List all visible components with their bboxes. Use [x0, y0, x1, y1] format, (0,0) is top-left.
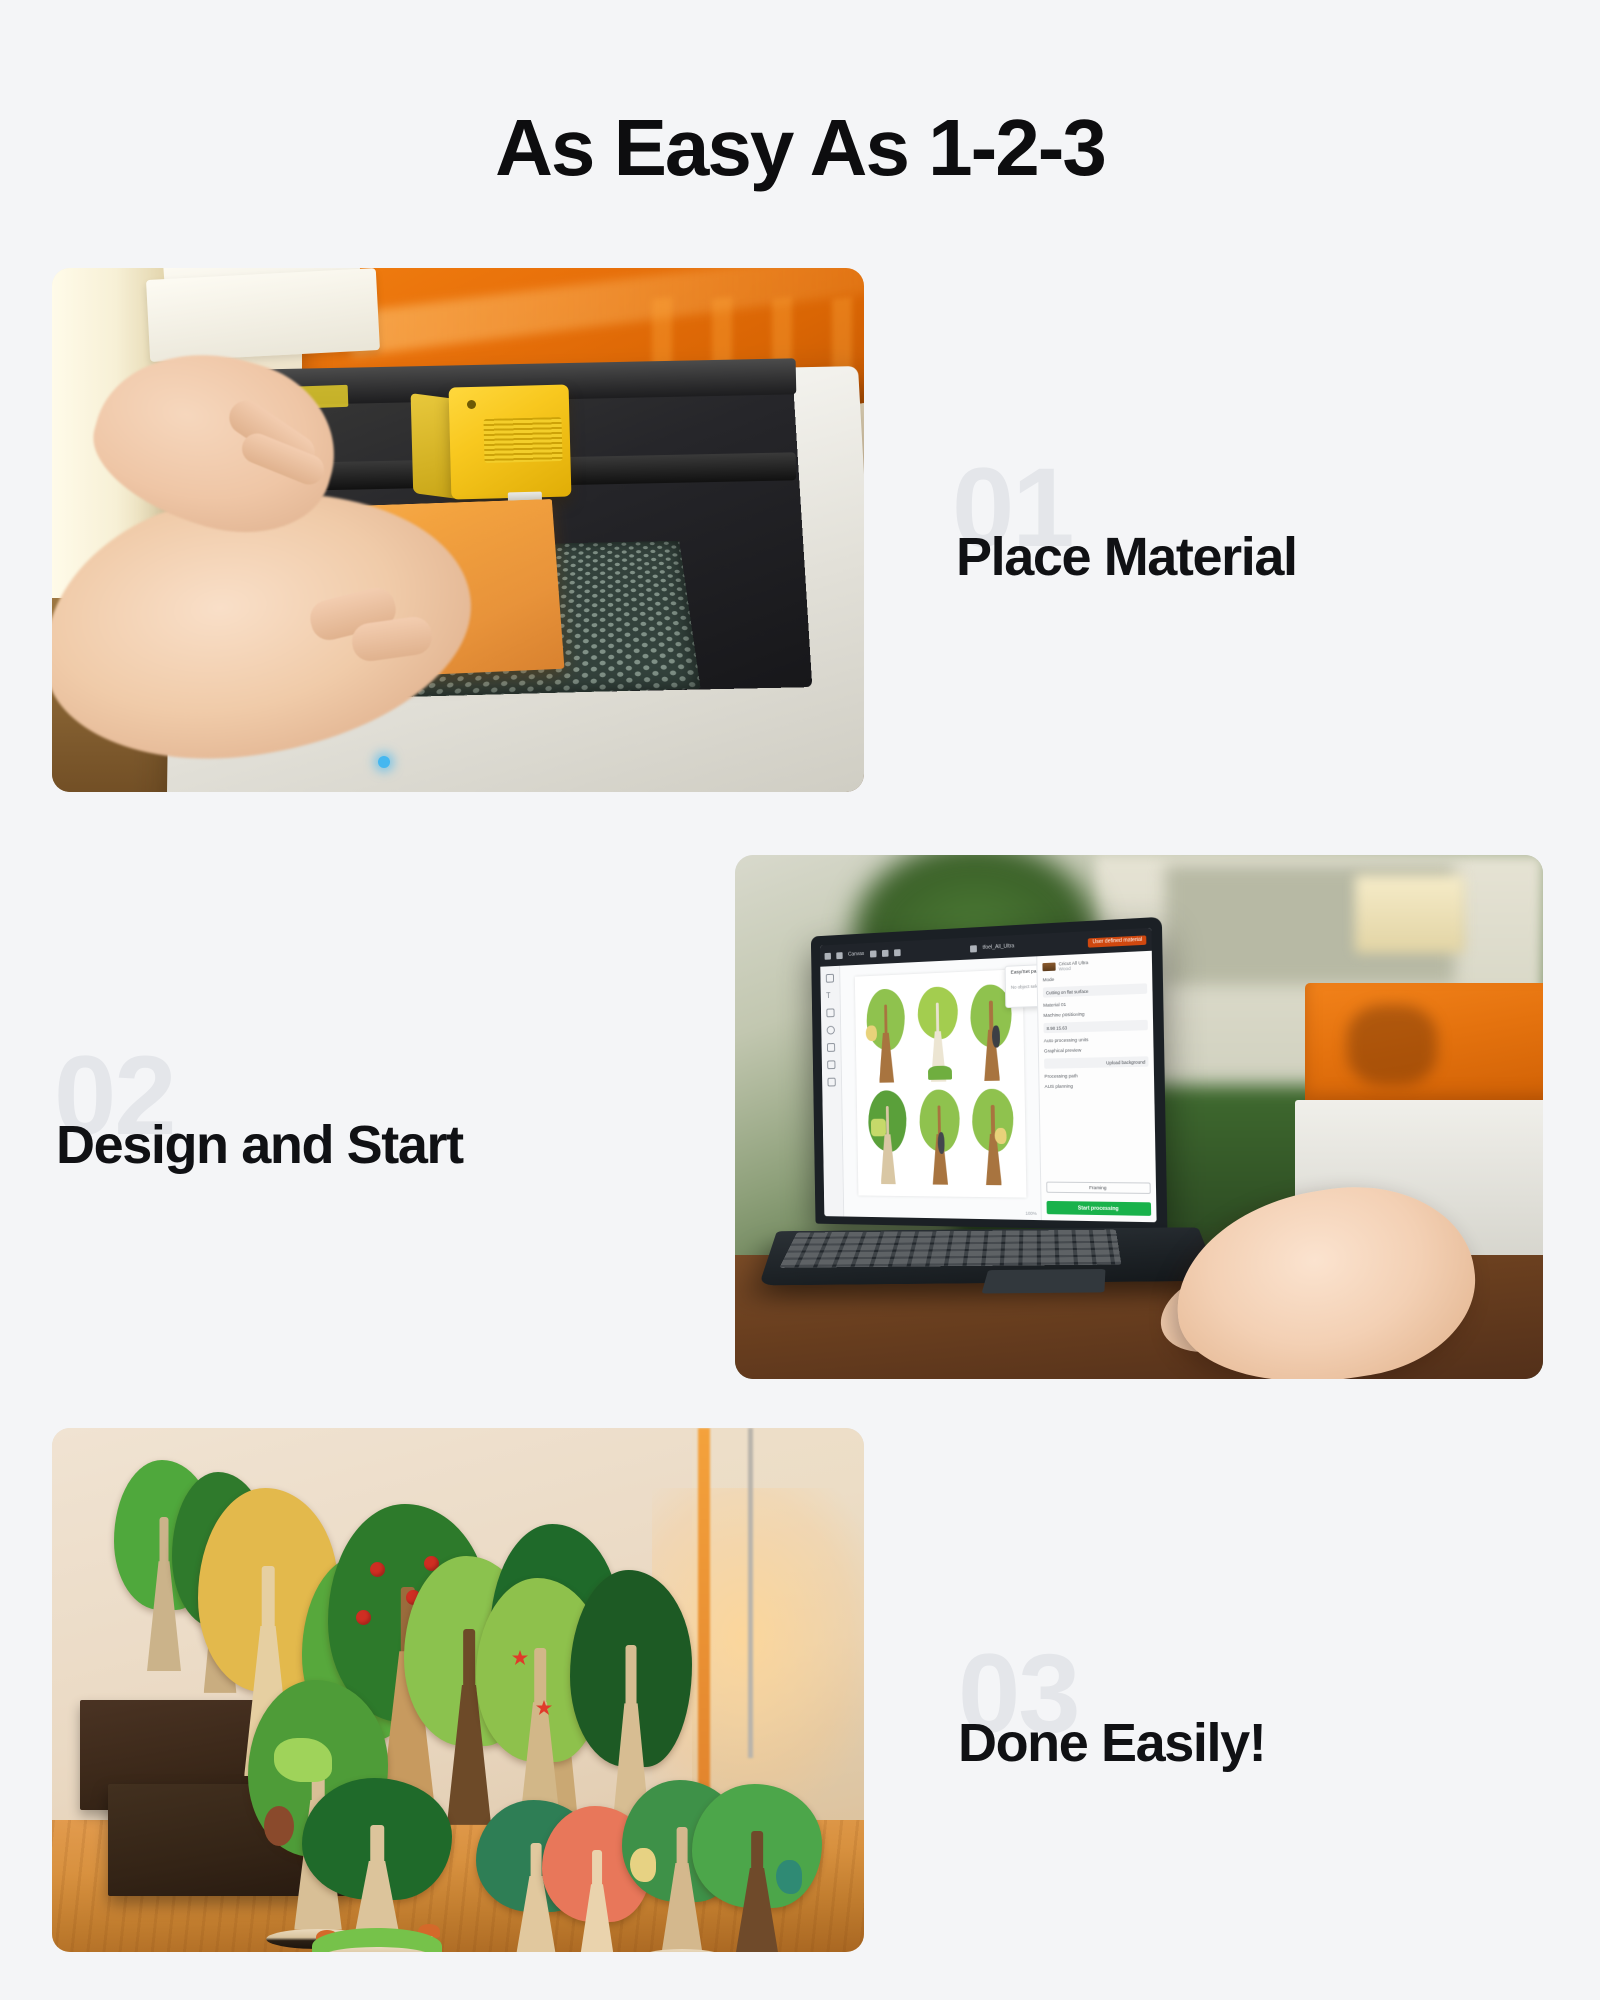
tree-design-4[interactable]	[862, 1086, 913, 1186]
image-tool-icon[interactable]	[826, 974, 834, 983]
start-processing-button[interactable]: Start processing	[1047, 1201, 1152, 1216]
stacked-box	[146, 268, 380, 362]
panel-row-5: Graphical preview	[1044, 1046, 1148, 1054]
laptop-screen-lid: Canvas tfoel_All_Ultra User defined mate…	[811, 917, 1168, 1231]
leaf-icon	[274, 1738, 332, 1782]
bird-icon	[995, 1128, 1007, 1144]
step-2-image: Canvas tfoel_All_Ultra User defined mate…	[735, 855, 1543, 1379]
material-badge[interactable]: User defined material	[1088, 935, 1146, 947]
panel-row-4[interactable]: Auto processing units	[1044, 1035, 1148, 1043]
artboard[interactable]	[855, 969, 1027, 1197]
step-1-image	[52, 268, 864, 792]
leaf-icon	[870, 1118, 885, 1136]
woodpecker-icon	[992, 1025, 1000, 1048]
laser-head-screw	[467, 400, 476, 409]
material-row[interactable]: Cricut All Ultra Wood	[1042, 957, 1146, 972]
material-swatch	[1042, 963, 1055, 972]
layers-tool-icon[interactable]	[827, 1043, 835, 1052]
dimensions-field[interactable]: 8.98 15.63	[1043, 1020, 1147, 1033]
laser-head-vent	[483, 417, 562, 463]
pen-tool-icon[interactable]	[827, 1026, 835, 1035]
bird-icon	[630, 1848, 656, 1882]
tree-design-1[interactable]	[860, 984, 911, 1085]
woodpecker-icon	[776, 1860, 802, 1894]
toolbar-spacer	[1020, 943, 1082, 946]
tree-design-6[interactable]	[966, 1084, 1020, 1187]
panel-row-2[interactable]: Machine positioning	[1043, 1009, 1147, 1018]
text-tool-icon[interactable]: T	[826, 991, 834, 1000]
mode-label: Mode	[1043, 973, 1147, 983]
panel-row-8[interactable]: AUS planning	[1045, 1082, 1149, 1089]
tree-cutout	[692, 1784, 822, 1952]
cut-icon[interactable]	[825, 952, 831, 959]
undo-icon[interactable]	[870, 950, 877, 957]
grid-tool-icon[interactable]	[827, 1078, 835, 1087]
material-sub: Wood	[1059, 965, 1089, 971]
device-icon	[970, 945, 977, 952]
frame-tool-icon[interactable]	[827, 1060, 835, 1069]
laptop-trackpad[interactable]	[982, 1269, 1106, 1293]
tree-cutout	[302, 1778, 452, 1952]
sync-icon[interactable]	[894, 949, 901, 956]
save-icon[interactable]	[836, 952, 842, 959]
page-title: As Easy As 1-2-3	[0, 108, 1600, 188]
canvas-label[interactable]: Canvas	[848, 951, 864, 958]
properties-panel[interactable]: Cricut All Ultra Wood Mode Cutting on fl…	[1036, 951, 1156, 1223]
laptop-keyboard[interactable]	[779, 1230, 1121, 1268]
bird-icon	[866, 1025, 877, 1041]
step-2-label: Design and Start	[56, 1118, 463, 1172]
step-1-label: Place Material	[956, 530, 1297, 584]
lamp	[1355, 875, 1465, 953]
panel-row-1[interactable]: Material 01	[1043, 999, 1147, 1008]
zoom-level[interactable]: 100%	[1025, 1211, 1036, 1216]
framing-button[interactable]: Framing	[1046, 1182, 1151, 1194]
acorn-icon	[264, 1806, 294, 1846]
redo-icon[interactable]	[882, 949, 889, 956]
file-name-tab[interactable]: tfoel_All_Ultra	[983, 943, 1015, 951]
mode-select[interactable]: Cutting on flat surface	[1043, 983, 1147, 997]
lamp-pole	[748, 1428, 753, 1758]
apple-icon	[356, 1610, 371, 1625]
shape-tool-icon[interactable]	[826, 1008, 834, 1017]
upload-background-button[interactable]: Upload background	[1044, 1056, 1148, 1068]
power-led-icon	[378, 756, 390, 768]
laptop-screen: Canvas tfoel_All_Ultra User defined mate…	[820, 928, 1157, 1222]
woodpecker-icon	[937, 1132, 944, 1154]
toolbar-spacer	[906, 949, 964, 952]
apple-icon	[370, 1562, 385, 1577]
step-3-image	[52, 1428, 864, 1952]
grass-patch	[928, 1065, 952, 1080]
machine-inner-shadow	[1347, 1005, 1437, 1085]
tree-design-5[interactable]	[913, 1085, 966, 1187]
tree-design-2[interactable]	[912, 982, 965, 1084]
panel-row-7: Processing path	[1044, 1072, 1148, 1079]
lamp-stand	[698, 1428, 710, 1828]
step-3-label: Done Easily!	[958, 1716, 1265, 1770]
